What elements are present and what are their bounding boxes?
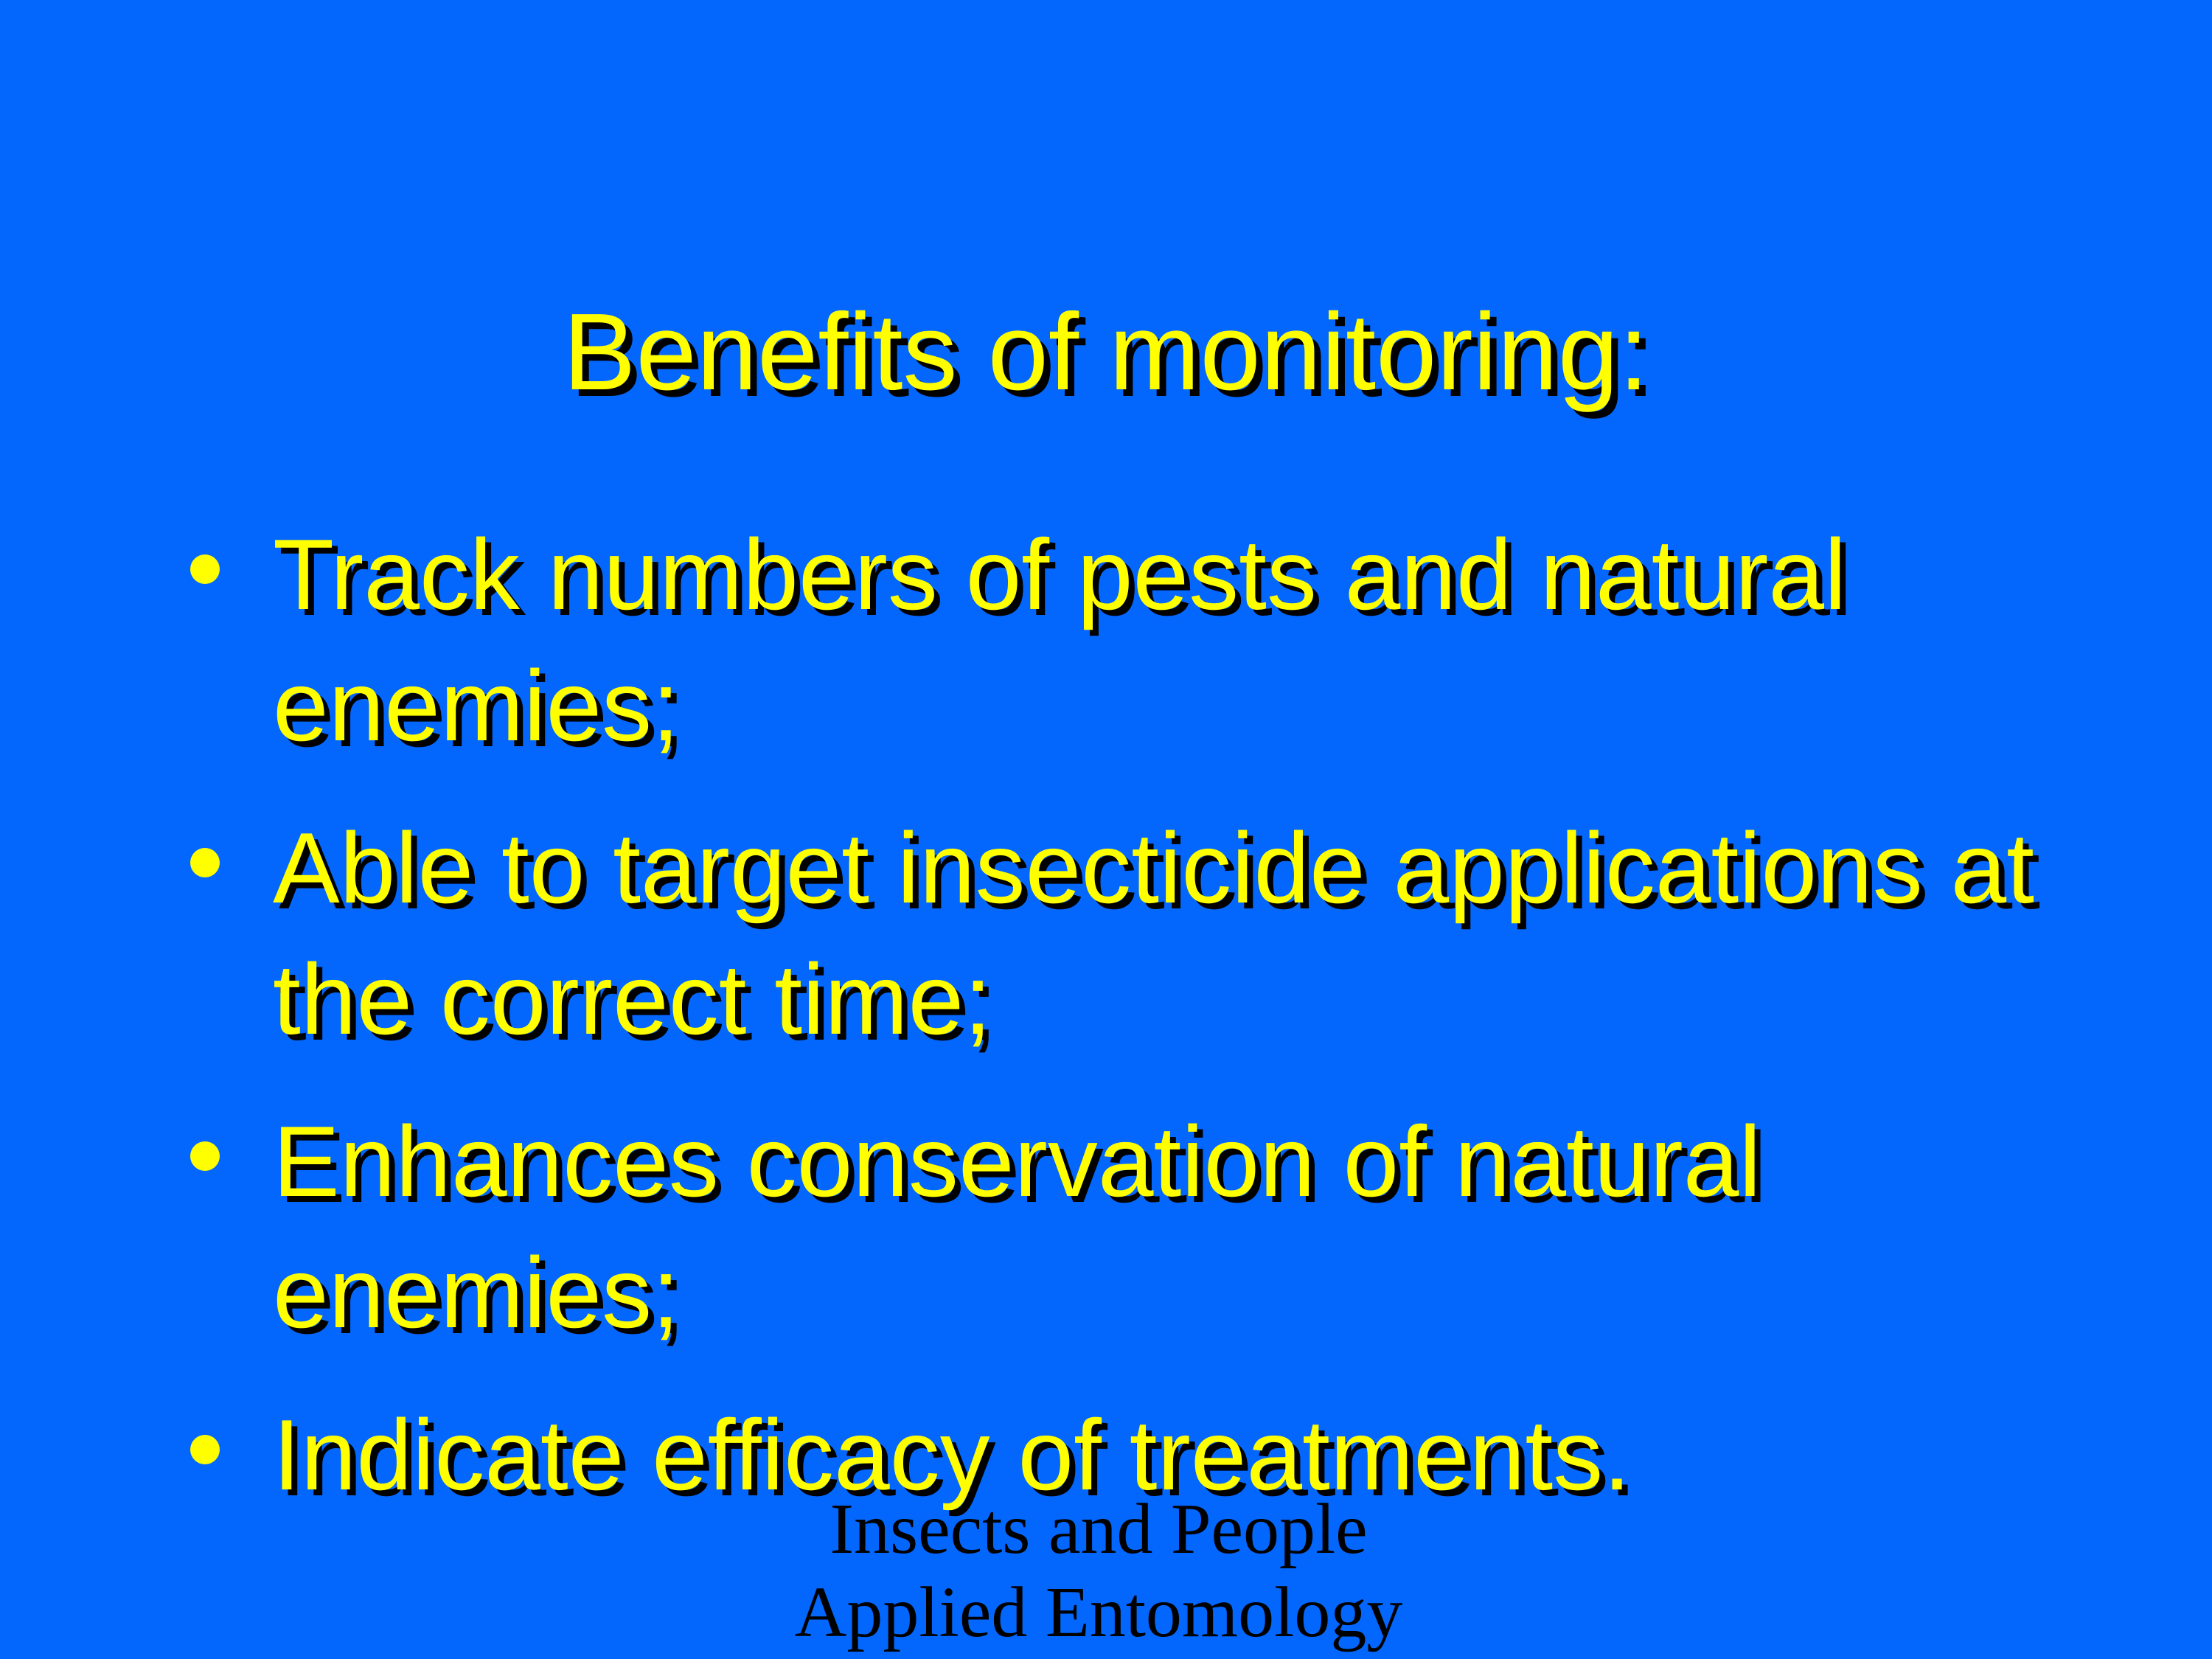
- list-item-label: Able to target insecticide applications …: [273, 802, 2168, 1065]
- footer-line-course: Insects and People: [0, 1488, 2205, 1571]
- bullet-list: Track numbers of pests and natural enemi…: [177, 509, 2168, 1551]
- list-item: Able to target insecticide applications …: [177, 802, 2168, 1065]
- page-title: Benefits of monitoring:: [0, 298, 2212, 407]
- list-item-label: Track numbers of pests and natural enemi…: [273, 509, 2168, 771]
- bullet-point-icon: [190, 848, 220, 877]
- list-item: Enhances conservation of natural enemies…: [177, 1096, 2168, 1358]
- slide-footer: Insects and People Applied Entomology: [0, 1488, 2212, 1655]
- presentation-slide: Benefits of monitoring: Track numbers of…: [0, 0, 2212, 1659]
- list-item: Track numbers of pests and natural enemi…: [177, 509, 2168, 771]
- bullet-point-icon: [190, 1435, 220, 1464]
- footer-line-subject: Applied Entomology: [0, 1571, 2205, 1655]
- bullet-point-icon: [190, 1141, 220, 1171]
- bullet-point-icon: [190, 554, 220, 584]
- list-item-label: Enhances conservation of natural enemies…: [273, 1096, 2168, 1358]
